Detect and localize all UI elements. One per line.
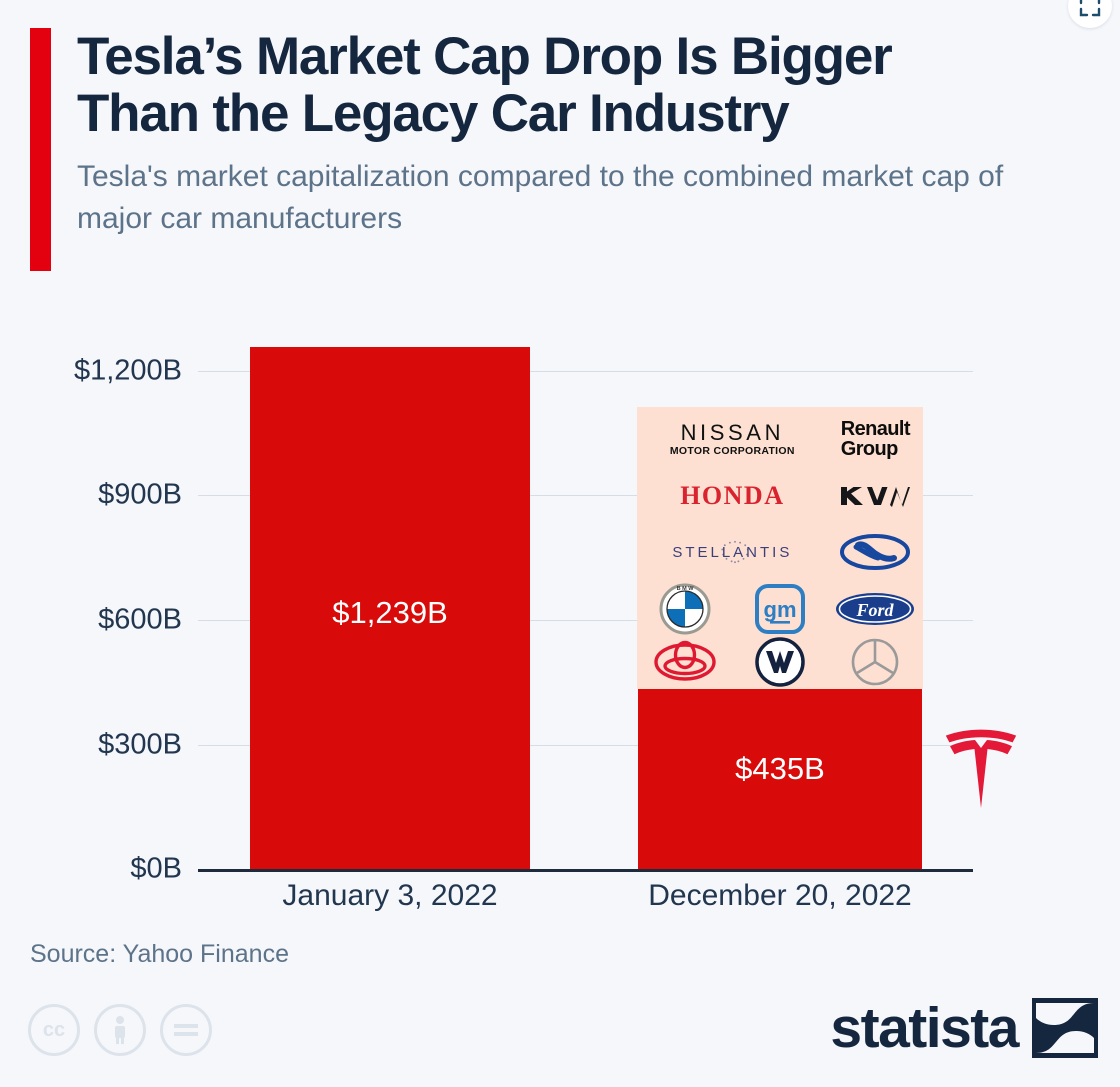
stellantis-logo: STELLANTIS: [637, 524, 828, 581]
toyota-logo: [637, 637, 732, 687]
x-axis-line: [198, 869, 973, 872]
gm-logo: gm: [732, 581, 827, 638]
kia-logo-mark: [838, 483, 912, 509]
creative-commons-badges: cc: [28, 1004, 212, 1056]
nissan-logo-wordmark: NISSAN: [670, 422, 795, 444]
cc-by-person-glyph: [109, 1015, 131, 1045]
volkswagen-logo: [732, 637, 827, 687]
creative-commons-label: cc: [43, 1019, 65, 1042]
xtick-label-december-20-2022: December 20, 2022: [600, 879, 960, 913]
ford-logo-mark: Ford: [834, 591, 916, 627]
svg-text:gm: gm: [763, 597, 796, 622]
ytick-label-600: $600B: [2, 604, 182, 637]
svg-text:Ford: Ford: [856, 600, 895, 620]
statista-wordmark: statista: [830, 1000, 1018, 1057]
mercedes-benz-logo: [828, 637, 923, 687]
bar-chart: $1,200B $900B $600B $300B $0B $1,239B $4…: [0, 0, 1120, 1087]
xtick-label-january-3-2022: January 3, 2022: [210, 879, 570, 913]
nissan-logo: NISSAN MOTOR CORPORATION: [637, 411, 828, 468]
hyundai-logo-mark: [840, 534, 910, 570]
renault-logo: Renault Group: [828, 411, 923, 468]
bmw-logo: B M W: [637, 581, 732, 638]
honda-logo: HONDA: [637, 468, 828, 525]
ytick-label-900: $900B: [2, 479, 182, 512]
nissan-logo-subtitle: MOTOR CORPORATION: [670, 446, 795, 457]
gm-logo-mark: gm: [754, 583, 806, 635]
bar-january-3-2022[interactable]: $1,239B: [250, 347, 530, 869]
ytick-label-1200: $1,200B: [2, 355, 182, 388]
cc-by-attribution-icon[interactable]: [94, 1004, 146, 1056]
creative-commons-icon[interactable]: cc: [28, 1004, 80, 1056]
stellantis-logo-dots: [718, 539, 752, 565]
svg-text:B M W: B M W: [676, 586, 694, 592]
bar-value-december-20-2022: $435B: [638, 751, 922, 787]
statista-brand: statista: [830, 998, 1098, 1058]
legacy-automakers-logo-panel: NISSAN MOTOR CORPORATION Renault Group H…: [637, 407, 923, 689]
hyundai-logo: [828, 524, 923, 581]
tesla-logo: [944, 728, 1018, 808]
mercedes-benz-logo-mark: [850, 637, 900, 687]
toyota-logo-mark: [654, 640, 716, 684]
statista-logo-mark: [1032, 998, 1098, 1058]
cc-nd-equals-glyph: [173, 1021, 199, 1039]
volkswagen-logo-mark: [755, 637, 805, 687]
renault-logo-line-2: Group: [841, 439, 910, 459]
cc-nd-noderivs-icon[interactable]: [160, 1004, 212, 1056]
bmw-logo-mark: B M W: [659, 583, 711, 635]
renault-logo-line-1: Renault: [841, 419, 910, 439]
honda-logo-wordmark: HONDA: [680, 481, 784, 511]
source-note: Source: Yahoo Finance: [30, 940, 289, 969]
ytick-label-300: $300B: [2, 729, 182, 762]
ford-logo: Ford: [828, 581, 923, 638]
bar-december-20-2022[interactable]: $435B: [638, 689, 922, 869]
bar-value-january-3-2022: $1,239B: [250, 595, 530, 631]
kia-logo: [828, 468, 923, 525]
ytick-label-0: $0B: [2, 853, 182, 886]
